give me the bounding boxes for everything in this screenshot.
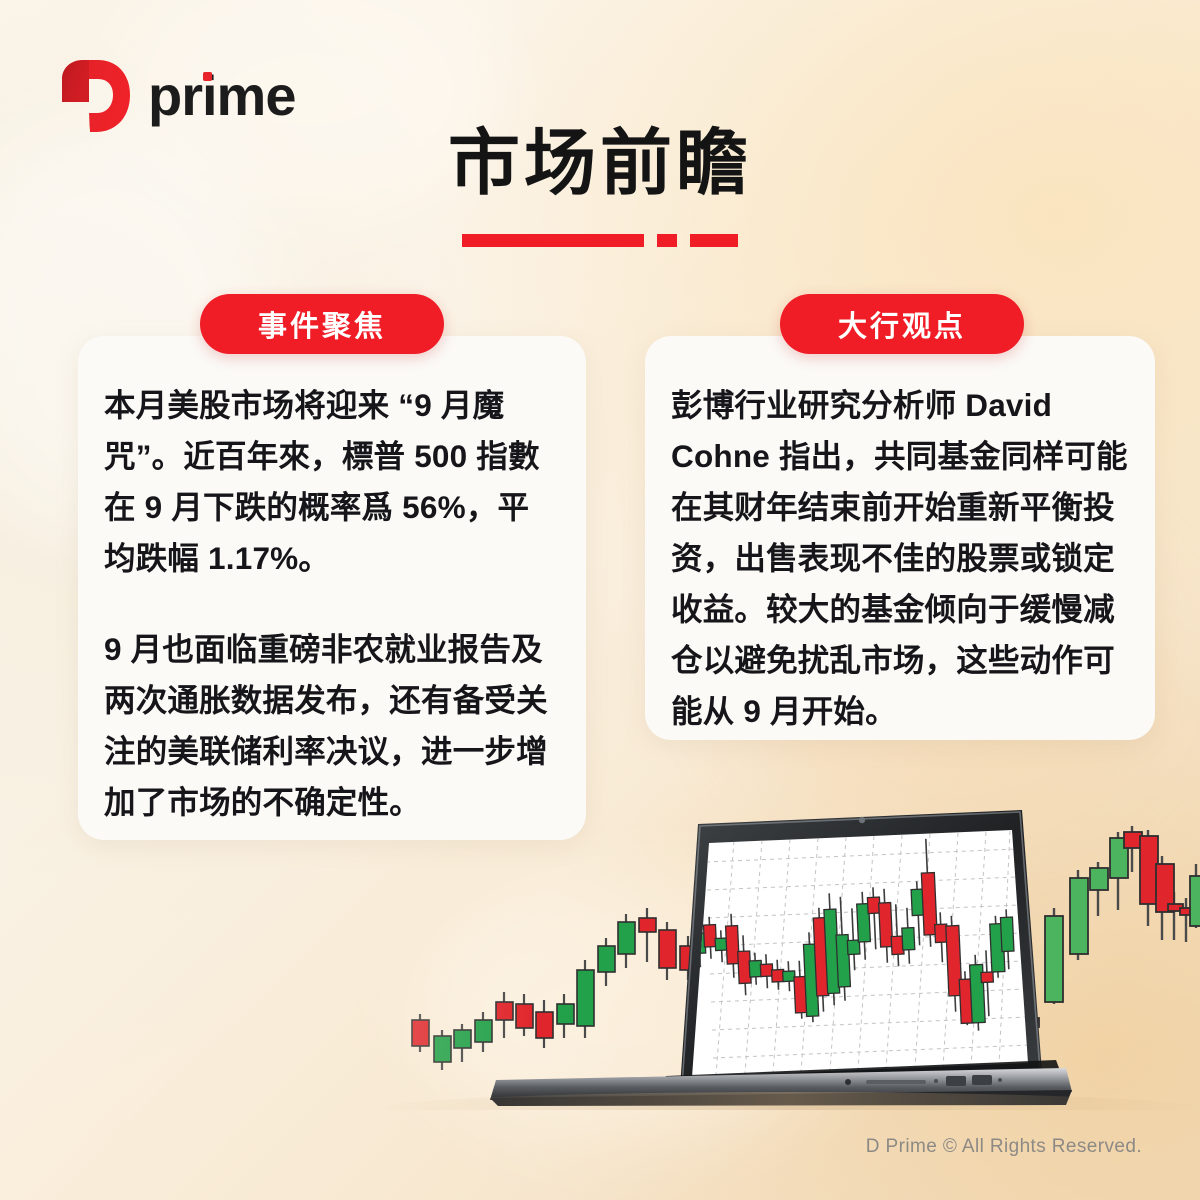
footer-copyright: D Prime © All Rights Reserved.: [866, 1136, 1142, 1158]
laptop-port-icon: [946, 1076, 966, 1086]
card-institutional-view: 大行观点 彭博行业研究分析师 David Cohne 指出，共同基金同样可能在其…: [645, 336, 1155, 740]
divider-segment-2: [657, 234, 677, 247]
logo-wordmark: prime: [148, 64, 296, 127]
foreground-candlestick-series: [1022, 826, 1200, 1030]
laptop-lid: [680, 810, 1042, 1088]
background-candlestick-series: [412, 876, 779, 1070]
screen-chart: [689, 831, 1030, 1075]
card-body: 本月美股市场将迎来 “9 月魔咒”。近百年來，標普 500 指數在 9 月下跌的…: [78, 336, 586, 828]
poster-canvas: prime 市场前瞻 事件聚焦 本月美股市场将迎来 “9 月魔咒”。近百年來，標…: [0, 0, 1200, 1200]
divider-segment-3: [690, 234, 738, 247]
laptop-shadow: [370, 1092, 1200, 1110]
card-body: 彭博行业研究分析师 David Cohne 指出，共同基金同样可能在其财年结束前…: [645, 336, 1155, 737]
card-badge-event-focus: 事件聚焦: [200, 294, 444, 354]
title-block: 市场前瞻: [0, 128, 1200, 247]
d-prime-logo-icon: [56, 57, 134, 135]
card-paragraph: 彭博行业研究分析师 David Cohne 指出，共同基金同样可能在其财年结束前…: [671, 380, 1129, 737]
laptop-camera-icon: [859, 817, 865, 823]
divider-segment-1: [462, 234, 644, 247]
laptop-port-icon: [972, 1075, 992, 1085]
card-event-focus: 事件聚焦 本月美股市场将迎来 “9 月魔咒”。近百年來，標普 500 指數在 9…: [78, 336, 586, 840]
title-divider: [0, 234, 1200, 247]
brand-logo: prime: [56, 56, 296, 136]
card-badge-label: 大行观点: [838, 303, 966, 345]
background-texture-blob: [420, 880, 840, 1140]
screen-candlestick-series: [689, 835, 1017, 1043]
logo-wordmark-wrap: prime: [148, 68, 296, 124]
card-paragraph: 9 月也面临重磅非农就业报告及两次通胀数据发布，还有备受关注的美联储利率决议，进…: [104, 624, 560, 828]
logo-accent-dot-icon: [203, 72, 212, 81]
laptop-screen: [692, 830, 1028, 1077]
card-badge-label: 事件聚焦: [258, 303, 386, 345]
card-paragraph: 本月美股市场将迎来 “9 月魔咒”。近百年來，標普 500 指數在 9 月下跌的…: [104, 380, 560, 584]
laptop-base: [490, 1068, 1072, 1100]
laptop-device: [370, 810, 1200, 1110]
laptop-indicator-icon: [845, 1079, 851, 1085]
card-badge-institutional-view: 大行观点: [780, 294, 1024, 354]
page-title: 市场前瞻: [0, 128, 1200, 200]
